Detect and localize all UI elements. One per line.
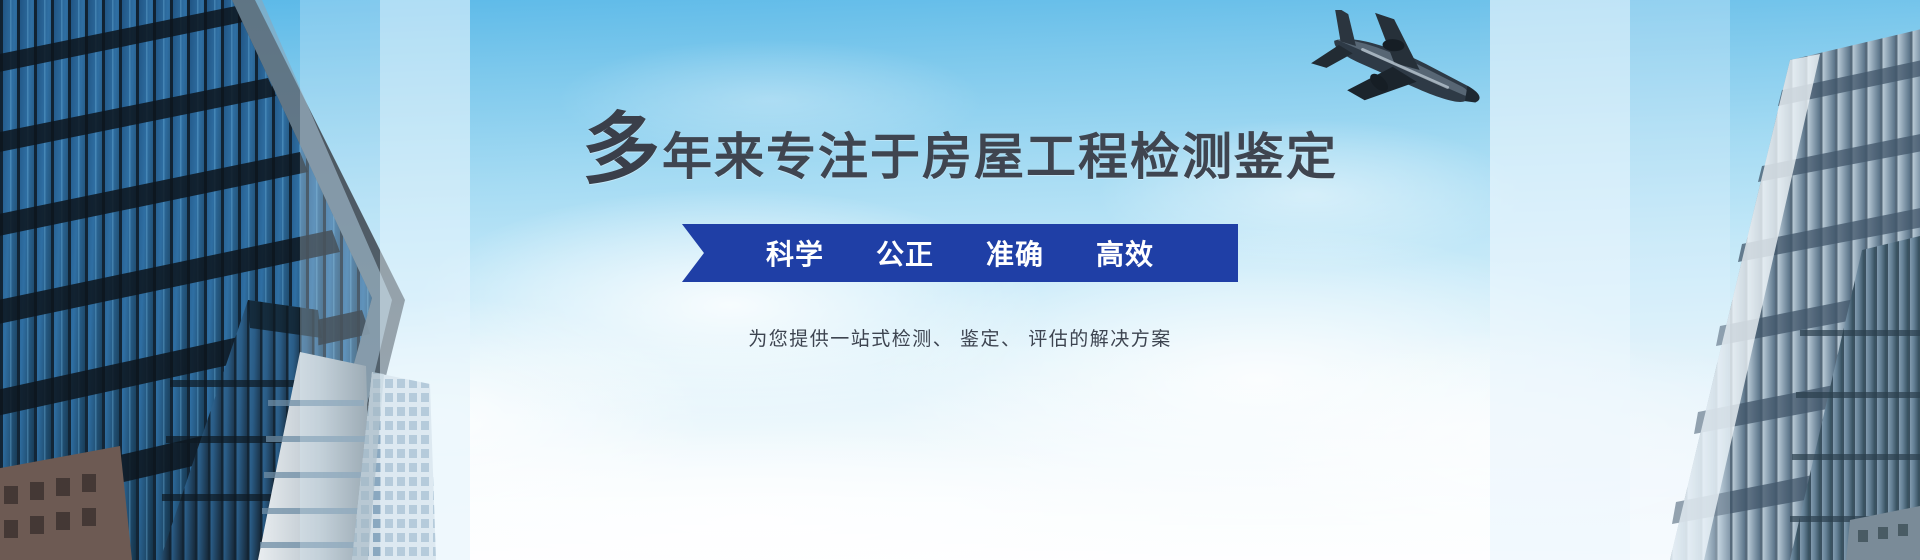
value-ribbon: 科学 公正 准确 高效 [682, 224, 1238, 282]
headline-lead-character: 多 [582, 110, 660, 188]
banner-subtitle: 为您提供一站式检测、 鉴定、 评估的解决方案 [748, 324, 1172, 351]
ribbon-word-1: 科学 [740, 233, 850, 273]
banner-content: 多 年来专注于房屋工程检测鉴定 科学 公正 准确 高效 为您提供一站式检测、 鉴… [0, 0, 1920, 560]
ribbon-wrapper: 科学 公正 准确 高效 [682, 224, 1238, 282]
headline-rest-text: 年来专注于房屋工程检测鉴定 [662, 132, 1338, 182]
hero-banner: 多 年来专注于房屋工程检测鉴定 科学 公正 准确 高效 为您提供一站式检测、 鉴… [0, 0, 1920, 560]
ribbon-word-2: 公正 [850, 233, 960, 273]
ribbon-word-3: 准确 [960, 233, 1070, 273]
page-title: 多 年来专注于房屋工程检测鉴定 [582, 106, 1338, 184]
ribbon-word-4: 高效 [1070, 233, 1180, 273]
